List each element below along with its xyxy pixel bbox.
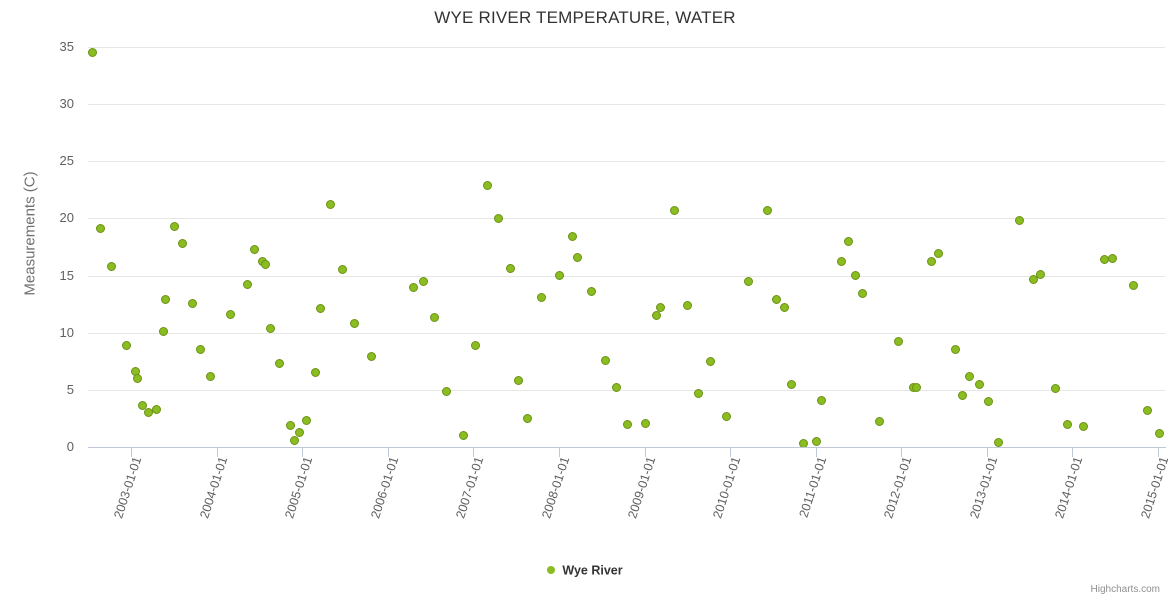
scatter-point[interactable]: [623, 420, 632, 429]
x-axis-tick-label: 2008-01-01: [497, 455, 572, 600]
scatter-point[interactable]: [170, 222, 179, 231]
scatter-point[interactable]: [275, 359, 284, 368]
gridline: [88, 161, 1165, 162]
scatter-point[interactable]: [261, 260, 270, 269]
scatter-point[interactable]: [250, 245, 259, 254]
scatter-point[interactable]: [286, 421, 295, 430]
gridline: [88, 104, 1165, 105]
scatter-point[interactable]: [1036, 270, 1045, 279]
scatter-point[interactable]: [311, 368, 320, 377]
scatter-point[interactable]: [290, 436, 299, 445]
scatter-point[interactable]: [573, 253, 582, 262]
x-axis-tick-mark: [131, 448, 132, 457]
scatter-point[interactable]: [772, 295, 781, 304]
scatter-point[interactable]: [875, 417, 884, 426]
x-axis-tick-label: 2010-01-01: [668, 455, 743, 600]
scatter-point[interactable]: [483, 181, 492, 190]
scatter-point[interactable]: [122, 341, 131, 350]
x-axis-tick-mark: [730, 448, 731, 457]
y-axis-tick-label: 5: [14, 382, 74, 397]
y-axis-tick-label: 20: [14, 210, 74, 225]
scatter-point[interactable]: [1063, 420, 1072, 429]
legend[interactable]: Wye River: [0, 563, 1170, 578]
scatter-point[interactable]: [326, 200, 335, 209]
plot-area[interactable]: [88, 47, 1165, 447]
scatter-point[interactable]: [442, 387, 451, 396]
x-axis-tick-mark: [473, 448, 474, 457]
x-axis-tick-mark: [816, 448, 817, 457]
x-axis-tick-mark: [388, 448, 389, 457]
x-axis-tick-mark: [1158, 448, 1159, 457]
scatter-point[interactable]: [107, 262, 116, 271]
gridline: [88, 390, 1165, 391]
x-axis-tick-label: 2013-01-01: [925, 455, 1000, 600]
scatter-point[interactable]: [975, 380, 984, 389]
x-axis-tick-mark: [645, 448, 646, 457]
scatter-point[interactable]: [787, 380, 796, 389]
y-axis-tick-label: 10: [14, 325, 74, 340]
x-axis-tick-mark: [987, 448, 988, 457]
scatter-point[interactable]: [837, 257, 846, 266]
scatter-point[interactable]: [812, 437, 821, 446]
scatter-point[interactable]: [722, 412, 731, 421]
scatter-point[interactable]: [350, 319, 359, 328]
scatter-point[interactable]: [88, 48, 97, 57]
scatter-point[interactable]: [1108, 254, 1117, 263]
scatter-point[interactable]: [652, 311, 661, 320]
y-axis-tick-label: 30: [14, 96, 74, 111]
gridline: [88, 333, 1165, 334]
scatter-point[interactable]: [96, 224, 105, 233]
x-axis-line: [88, 447, 1166, 448]
scatter-point[interactable]: [1079, 422, 1088, 431]
scatter-point[interactable]: [133, 374, 142, 383]
x-axis-tick-label: 2015-01-01: [1096, 455, 1170, 600]
scatter-point[interactable]: [430, 313, 439, 322]
x-axis-tick-label: 2006-01-01: [326, 455, 401, 600]
highcharts-chart-container: WYE RIVER TEMPERATURE, WATER Measurement…: [0, 0, 1170, 600]
scatter-point[interactable]: [1143, 406, 1152, 415]
y-axis-tick-label: 25: [14, 153, 74, 168]
x-axis-tick-label: 2009-01-01: [583, 455, 658, 600]
scatter-point[interactable]: [1129, 281, 1138, 290]
scatter-point[interactable]: [506, 264, 515, 273]
scatter-point[interactable]: [555, 271, 564, 280]
scatter-point[interactable]: [266, 324, 275, 333]
y-axis-tick-label: 35: [14, 39, 74, 54]
x-axis-tick-label: 2004-01-01: [155, 455, 230, 600]
scatter-point[interactable]: [471, 341, 480, 350]
scatter-point[interactable]: [419, 277, 428, 286]
legend-item-wye-river[interactable]: Wye River: [562, 564, 622, 578]
scatter-point[interactable]: [161, 295, 170, 304]
scatter-point[interactable]: [858, 289, 867, 298]
scatter-point[interactable]: [780, 303, 789, 312]
scatter-point[interactable]: [338, 265, 347, 274]
scatter-point[interactable]: [1015, 216, 1024, 225]
y-axis-tick-label: 15: [14, 268, 74, 283]
scatter-point[interactable]: [951, 345, 960, 354]
scatter-point[interactable]: [844, 237, 853, 246]
x-axis-tick-mark: [302, 448, 303, 457]
x-axis-tick-label: 2003-01-01: [69, 455, 144, 600]
scatter-point[interactable]: [894, 337, 903, 346]
scatter-point[interactable]: [409, 283, 418, 292]
x-axis-tick-label: 2005-01-01: [241, 455, 316, 600]
scatter-point[interactable]: [994, 438, 1003, 447]
scatter-point[interactable]: [178, 239, 187, 248]
x-axis-tick-mark: [217, 448, 218, 457]
scatter-point[interactable]: [587, 287, 596, 296]
scatter-point[interactable]: [927, 257, 936, 266]
scatter-point[interactable]: [188, 299, 197, 308]
credits-label[interactable]: Highcharts.com: [1091, 584, 1160, 595]
scatter-point[interactable]: [302, 416, 311, 425]
scatter-point[interactable]: [817, 396, 826, 405]
scatter-point[interactable]: [670, 206, 679, 215]
x-axis-tick-mark: [559, 448, 560, 457]
scatter-point[interactable]: [965, 372, 974, 381]
chart-title: WYE RIVER TEMPERATURE, WATER: [0, 8, 1170, 28]
scatter-point[interactable]: [459, 431, 468, 440]
scatter-point[interactable]: [206, 372, 215, 381]
scatter-point[interactable]: [694, 389, 703, 398]
scatter-point[interactable]: [706, 357, 715, 366]
scatter-point[interactable]: [601, 356, 610, 365]
scatter-point[interactable]: [1155, 429, 1164, 438]
x-axis-tick-label: 2011-01-01: [754, 455, 829, 600]
x-axis-tick-mark: [1072, 448, 1073, 457]
scatter-point[interactable]: [196, 345, 205, 354]
scatter-point[interactable]: [243, 280, 252, 289]
scatter-point[interactable]: [641, 419, 650, 428]
scatter-point[interactable]: [656, 303, 665, 312]
scatter-point[interactable]: [934, 249, 943, 258]
x-axis-tick-mark: [901, 448, 902, 457]
gridline: [88, 218, 1165, 219]
scatter-point[interactable]: [523, 414, 532, 423]
x-axis-tick-label: 2014-01-01: [1010, 455, 1085, 600]
scatter-point[interactable]: [958, 391, 967, 400]
scatter-point[interactable]: [295, 428, 304, 437]
scatter-point[interactable]: [514, 376, 523, 385]
x-axis-tick-label: 2007-01-01: [411, 455, 486, 600]
scatter-point[interactable]: [152, 405, 161, 414]
gridline: [88, 276, 1165, 277]
scatter-point[interactable]: [683, 301, 692, 310]
scatter-point[interactable]: [851, 271, 860, 280]
legend-marker-icon: [547, 566, 555, 574]
scatter-point[interactable]: [226, 310, 235, 319]
scatter-point[interactable]: [568, 232, 577, 241]
scatter-point[interactable]: [367, 352, 376, 361]
scatter-point[interactable]: [1051, 384, 1060, 393]
scatter-point[interactable]: [912, 383, 921, 392]
gridline: [88, 47, 1165, 48]
scatter-point[interactable]: [763, 206, 772, 215]
scatter-point[interactable]: [316, 304, 325, 313]
scatter-point[interactable]: [494, 214, 503, 223]
y-axis-tick-label: 0: [14, 439, 74, 454]
scatter-point[interactable]: [159, 327, 168, 336]
scatter-point[interactable]: [984, 397, 993, 406]
x-axis-tick-label: 2012-01-01: [839, 455, 914, 600]
scatter-point[interactable]: [537, 293, 546, 302]
scatter-point[interactable]: [744, 277, 753, 286]
